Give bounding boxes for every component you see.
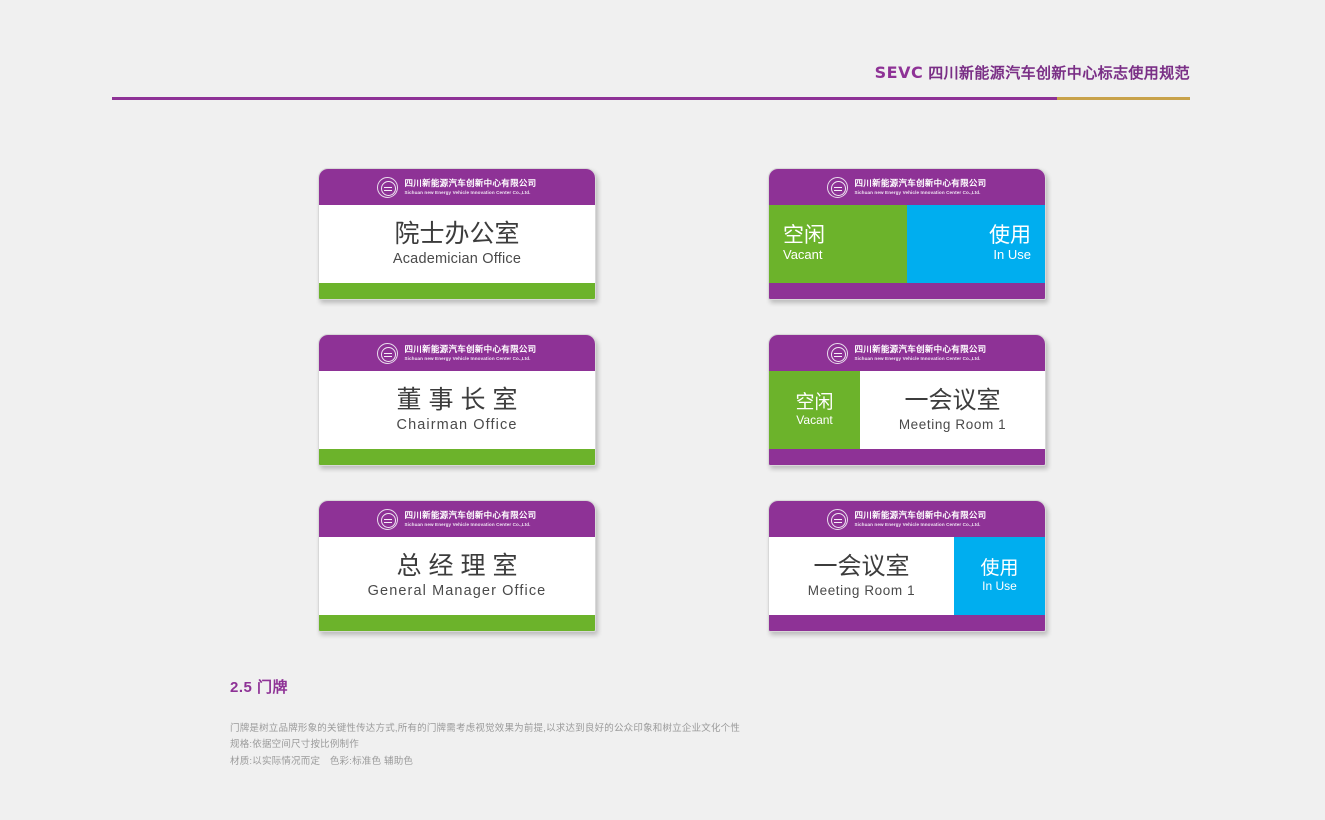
status-label-en: In Use: [982, 580, 1017, 593]
sign-row-2: 四川新能源汽车创新中心有限公司 Sichuan new Energy Vehic…: [0, 334, 1325, 500]
sevc-emblem-icon: [827, 343, 848, 364]
sign-header-band: 四川新能源汽车创新中心有限公司 Sichuan new Energy Vehic…: [769, 169, 1045, 205]
company-lockup: 四川新能源汽车创新中心有限公司 Sichuan new Energy Vehic…: [404, 511, 536, 526]
status-label-en: In Use: [993, 248, 1031, 262]
header-rule: [112, 97, 1190, 100]
header-title-cn: 四川新能源汽车创新中心标志使用规范: [928, 62, 1190, 83]
company-name-en: Sichuan new Energy Vehicle Innovation Ce…: [854, 522, 986, 527]
sign-base-bar: [319, 615, 595, 631]
room-name-en: Chairman Office: [397, 417, 518, 433]
sign-header-band: 四川新能源汽车创新中心有限公司 Sichuan new Energy Vehic…: [319, 501, 595, 537]
sevc-emblem-icon: [377, 177, 398, 198]
status-panel-inuse[interactable]: 使用 In Use: [954, 537, 1045, 615]
room-name-en: Academician Office: [393, 251, 521, 267]
company-lockup: 四川新能源汽车创新中心有限公司 Sichuan new Energy Vehic…: [404, 179, 536, 194]
sign-base-bar: [319, 283, 595, 299]
room-panel: 总经理室 General Manager Office: [319, 537, 595, 615]
room-panel: 院士办公室 Academician Office: [319, 205, 595, 283]
page-header: SEVC 四川新能源汽车创新中心标志使用规范: [112, 62, 1190, 100]
room-name-en: General Manager Office: [368, 583, 547, 599]
status-label-cn: 空闲: [796, 393, 834, 413]
company-name-en: Sichuan new Energy Vehicle Innovation Ce…: [854, 190, 986, 195]
room-panel: 一会议室 Meeting Room 1: [860, 371, 1045, 449]
sign-academician-office[interactable]: 四川新能源汽车创新中心有限公司 Sichuan new Energy Vehic…: [318, 168, 596, 300]
room-panel: 一会议室 Meeting Room 1: [769, 537, 954, 615]
company-lockup: 四川新能源汽车创新中心有限公司 Sichuan new Energy Vehic…: [854, 345, 986, 360]
sign-vacant-inuse-split[interactable]: 四川新能源汽车创新中心有限公司 Sichuan new Energy Vehic…: [768, 168, 1046, 300]
sign-header-band: 四川新能源汽车创新中心有限公司 Sichuan new Energy Vehic…: [769, 501, 1045, 537]
status-label-cn: 使用: [989, 225, 1031, 247]
status-label-en: Vacant: [796, 414, 832, 427]
sign-meeting-room-1-vacant[interactable]: 四川新能源汽车创新中心有限公司 Sichuan new Energy Vehic…: [768, 334, 1046, 466]
room-name-en: Meeting Room 1: [808, 583, 915, 598]
sign-body: 董事长室 Chairman Office: [319, 371, 595, 449]
sign-base-bar: [319, 449, 595, 465]
status-panel-vacant[interactable]: 空闲 Vacant: [769, 371, 860, 449]
room-panel: 董事长室 Chairman Office: [319, 371, 595, 449]
sign-base-bar: [769, 615, 1045, 631]
company-name-cn: 四川新能源汽车创新中心有限公司: [854, 511, 986, 520]
spec-line-material-color: 材质:以实际情况而定 色彩:标准色 辅助色: [230, 754, 930, 770]
company-name-en: Sichuan new Energy Vehicle Innovation Ce…: [854, 356, 986, 361]
status-label-cn: 空闲: [783, 225, 825, 247]
sign-row-1: 四川新能源汽车创新中心有限公司 Sichuan new Energy Vehic…: [0, 168, 1325, 334]
page-canvas: SEVC 四川新能源汽车创新中心标志使用规范 四川新能源汽车创新中心有限公司 S…: [0, 0, 1325, 820]
header-rule-purple: [112, 97, 1057, 100]
sign-header-band: 四川新能源汽车创新中心有限公司 Sichuan new Energy Vehic…: [319, 335, 595, 371]
status-label-cn: 使用: [980, 559, 1018, 579]
company-name-cn: 四川新能源汽车创新中心有限公司: [404, 345, 536, 354]
sign-header-band: 四川新能源汽车创新中心有限公司 Sichuan new Energy Vehic…: [319, 169, 595, 205]
section-body: 门牌是树立品牌形象的关键性传达方式,所有的门牌需考虑视觉效果为前提,以求达到良好…: [230, 721, 930, 770]
sign-base-bar: [769, 283, 1045, 299]
company-name-en: Sichuan new Energy Vehicle Innovation Ce…: [404, 190, 536, 195]
company-lockup: 四川新能源汽车创新中心有限公司 Sichuan new Energy Vehic…: [854, 179, 986, 194]
sign-body: 总经理室 General Manager Office: [319, 537, 595, 615]
status-panel-inuse[interactable]: 使用 In Use: [907, 205, 1045, 283]
room-name-cn: 一会议室: [813, 554, 909, 580]
header-rule-gold: [1057, 97, 1190, 100]
sevc-emblem-icon: [827, 177, 848, 198]
room-name-cn: 总经理室: [389, 553, 524, 581]
sign-body: 空闲 Vacant 一会议室 Meeting Room 1: [769, 371, 1045, 449]
spec-section: 2.5 门牌 门牌是树立品牌形象的关键性传达方式,所有的门牌需考虑视觉效果为前提…: [230, 676, 930, 770]
spec-line-size: 规格:依据空间尺寸按比例制作: [230, 737, 930, 753]
company-lockup: 四川新能源汽车创新中心有限公司 Sichuan new Energy Vehic…: [854, 511, 986, 526]
company-lockup: 四川新能源汽车创新中心有限公司 Sichuan new Energy Vehic…: [404, 345, 536, 360]
status-panel-vacant[interactable]: 空闲 Vacant: [769, 205, 907, 283]
room-name-cn: 院士办公室: [394, 221, 519, 249]
sevc-emblem-icon: [377, 343, 398, 364]
sevc-emblem-icon: [377, 509, 398, 530]
status-label-en: Vacant: [783, 248, 823, 262]
sevc-emblem-icon: [827, 509, 848, 530]
company-name-en: Sichuan new Energy Vehicle Innovation Ce…: [404, 522, 536, 527]
sign-general-manager-office[interactable]: 四川新能源汽车创新中心有限公司 Sichuan new Energy Vehic…: [318, 500, 596, 632]
sign-chairman-office[interactable]: 四川新能源汽车创新中心有限公司 Sichuan new Energy Vehic…: [318, 334, 596, 466]
sign-grid: 四川新能源汽车创新中心有限公司 Sichuan new Energy Vehic…: [0, 168, 1325, 666]
sign-row-3: 四川新能源汽车创新中心有限公司 Sichuan new Energy Vehic…: [0, 500, 1325, 666]
sign-meeting-room-1-inuse[interactable]: 四川新能源汽车创新中心有限公司 Sichuan new Energy Vehic…: [768, 500, 1046, 632]
spec-line-description: 门牌是树立品牌形象的关键性传达方式,所有的门牌需考虑视觉效果为前提,以求达到良好…: [230, 721, 930, 737]
section-title: 2.5 门牌: [230, 676, 930, 697]
sign-base-bar: [769, 449, 1045, 465]
room-name-en: Meeting Room 1: [899, 417, 1006, 432]
company-name-cn: 四川新能源汽车创新中心有限公司: [854, 179, 986, 188]
sign-header-band: 四川新能源汽车创新中心有限公司 Sichuan new Energy Vehic…: [769, 335, 1045, 371]
room-name-cn: 董事长室: [389, 387, 524, 415]
sevc-wordmark: SEVC: [875, 63, 924, 82]
company-name-en: Sichuan new Energy Vehicle Innovation Ce…: [404, 356, 536, 361]
sign-body: 一会议室 Meeting Room 1 使用 In Use: [769, 537, 1045, 615]
company-name-cn: 四川新能源汽车创新中心有限公司: [404, 511, 536, 520]
sign-body: 空闲 Vacant 使用 In Use: [769, 205, 1045, 283]
sign-body: 院士办公室 Academician Office: [319, 205, 595, 283]
room-name-cn: 一会议室: [905, 388, 1001, 414]
company-name-cn: 四川新能源汽车创新中心有限公司: [404, 179, 536, 188]
header-title-group: SEVC 四川新能源汽车创新中心标志使用规范: [875, 62, 1190, 83]
company-name-cn: 四川新能源汽车创新中心有限公司: [854, 345, 986, 354]
